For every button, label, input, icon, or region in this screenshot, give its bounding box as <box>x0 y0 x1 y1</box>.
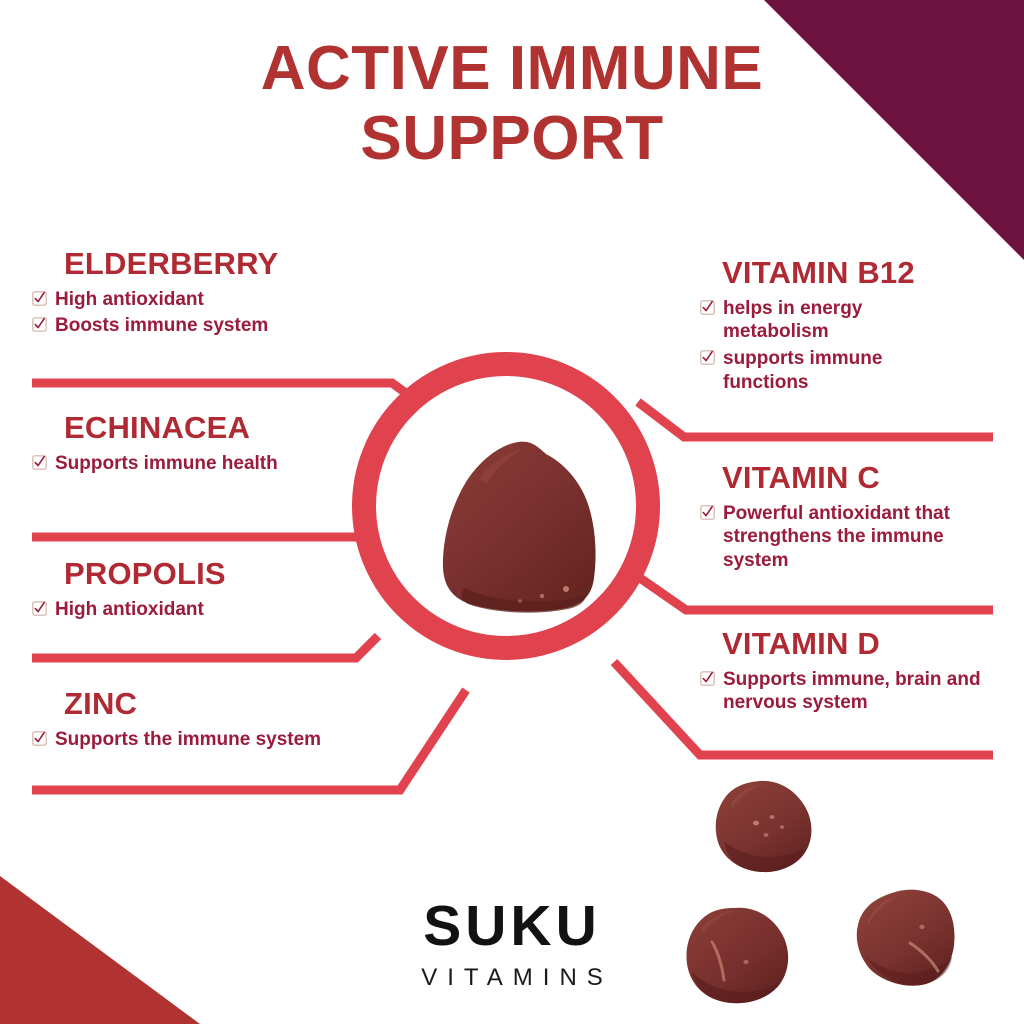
gummy-top-right-icon <box>712 779 816 875</box>
nutrient-title: VITAMIN C <box>700 462 1020 495</box>
nutrient-block-elderberry: ELDERBERRY High antioxidant <box>32 248 412 341</box>
nutrient-title: ZINC <box>32 688 412 721</box>
benefit-list: Powerful antioxidant that strengthens th… <box>700 502 1020 573</box>
list-item: Powerful antioxidant that strengthens th… <box>700 502 965 573</box>
list-item: supports immune functions <box>700 347 940 395</box>
list-item: High antioxidant <box>32 288 412 312</box>
benefit-list: High antioxidant <box>32 598 412 622</box>
benefit-text: Boosts immune system <box>55 314 268 338</box>
brand-logo: SUKU VITAMINS <box>0 898 1024 990</box>
benefit-list: helps in energy metabolism supports immu… <box>700 297 1020 395</box>
benefit-list: Supports immune, brain and nervous syste… <box>700 668 1020 716</box>
benefit-list: Supports immune health <box>32 452 412 476</box>
checkbox-checked-icon <box>700 671 715 686</box>
infographic-canvas: ACTIVE IMMUNE SUPPORT <box>0 0 1024 1024</box>
brand-tagline: VITAMINS <box>0 966 1024 990</box>
list-item: Supports immune, brain and nervous syste… <box>700 668 990 716</box>
immune-gummy-icon <box>434 438 606 614</box>
checkbox-checked-icon <box>700 350 715 365</box>
list-item: helps in energy metabolism <box>700 297 930 345</box>
nutrient-title: PROPOLIS <box>32 558 412 591</box>
nutrient-title: VITAMIN B12 <box>700 257 1020 290</box>
benefit-list: Supports the immune system <box>32 728 412 752</box>
benefit-list: High antioxidant Boosts immune system <box>32 288 412 339</box>
checkbox-checked-icon <box>700 505 715 520</box>
nutrient-title: ELDERBERRY <box>32 248 412 281</box>
checkbox-checked-icon <box>700 300 715 315</box>
benefit-text: supports immune functions <box>723 347 940 395</box>
page-title-line-2: SUPPORT <box>0 104 1024 174</box>
checkbox-checked-icon <box>32 455 47 470</box>
benefit-text: Powerful antioxidant that strengthens th… <box>723 502 965 573</box>
checkbox-checked-icon <box>32 601 47 616</box>
list-item: Boosts immune system <box>32 314 412 338</box>
benefit-text: helps in energy metabolism <box>723 297 930 345</box>
benefit-text: High antioxidant <box>55 288 204 312</box>
brand-name: SUKU <box>0 898 1024 955</box>
page-title-line-1: ACTIVE IMMUNE <box>261 34 764 103</box>
list-item: High antioxidant <box>32 598 412 622</box>
benefit-text: Supports immune health <box>55 452 278 476</box>
benefit-text: Supports the immune system <box>55 728 321 752</box>
list-item: Supports the immune system <box>32 728 412 752</box>
nutrient-block-zinc: ZINC Supports the immune system <box>32 688 412 754</box>
nutrient-title: VITAMIN D <box>700 628 1020 661</box>
page-title: ACTIVE IMMUNE SUPPORT <box>0 34 1024 174</box>
nutrient-block-vitamin-b12: VITAMIN B12 helps in energy metabolism <box>700 257 1020 398</box>
checkbox-checked-icon <box>32 291 47 306</box>
benefit-text: High antioxidant <box>55 598 204 622</box>
nutrient-block-vitamin-d: VITAMIN D Supports immune, brain and ner… <box>700 628 1020 718</box>
nutrient-title: ECHINACEA <box>32 412 412 445</box>
benefit-text: Supports immune, brain and nervous syste… <box>723 668 990 716</box>
checkbox-checked-icon <box>32 317 47 332</box>
nutrient-block-propolis: PROPOLIS High antioxidant <box>32 558 412 624</box>
list-item: Supports immune health <box>32 452 282 476</box>
checkbox-checked-icon <box>32 731 47 746</box>
nutrient-block-echinacea: ECHINACEA Supports immune health <box>32 412 412 478</box>
nutrient-block-vitamin-c: VITAMIN C Powerful antioxidant that stre… <box>700 462 1020 576</box>
